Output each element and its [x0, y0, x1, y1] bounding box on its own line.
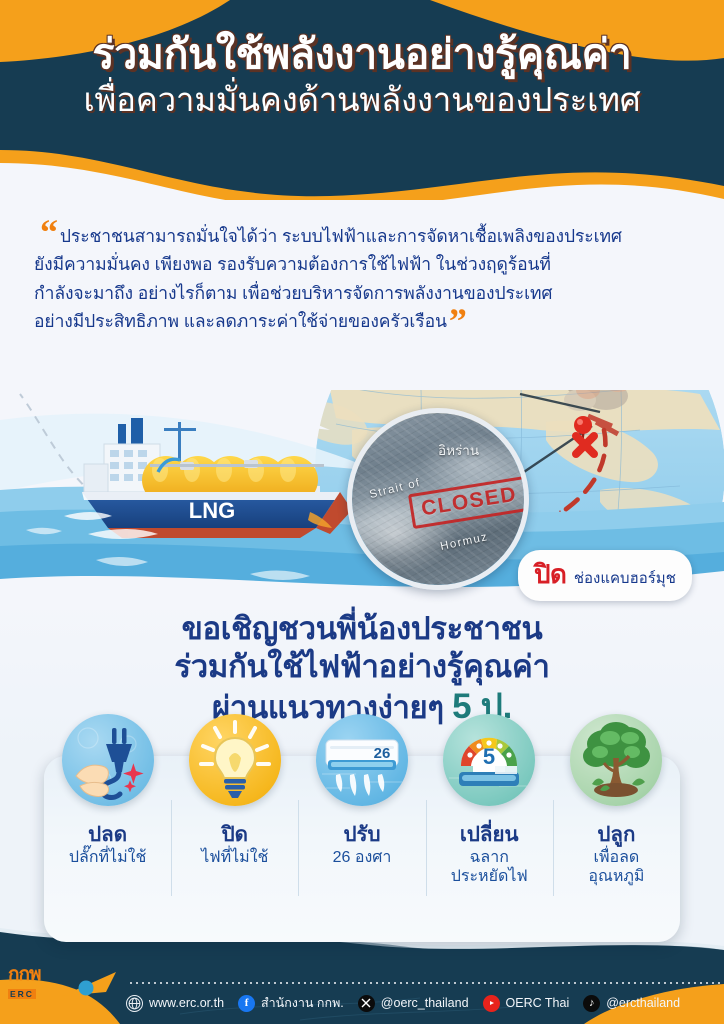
quote-line-4: อย่างมีประสิทธิภาพ และลดภาระค่าใช้จ่ายขอ… — [34, 311, 447, 331]
social-link-facebook[interactable]: f สำนักงาน กกพ. — [238, 993, 344, 1013]
tip-item-plant-tree[interactable]: ปลูก เพื่อลด อุณหภูมิ — [553, 756, 680, 942]
social-link-youtube[interactable]: OERC Thai — [483, 995, 570, 1012]
quote-close-icon: ” — [449, 311, 467, 333]
hormuz-closure-callout: ปิด ช่องแคบฮอร์มุช — [518, 550, 692, 601]
energy-label-no5-icon: 5 — [443, 714, 535, 806]
callout-small-text: ช่องแคบฮอร์มุช — [574, 570, 676, 587]
social-label: @ercthailand — [606, 996, 680, 1010]
social-label: @oerc_thailand — [381, 996, 469, 1010]
tip-title: ปิด — [171, 818, 298, 851]
page-title: ร่วมกันใช้พลังงานอย่างรู้คุณค่า เพื่อควา… — [0, 30, 724, 123]
iran-label: อิหร่าน — [438, 439, 479, 461]
air-conditioner-icon: 26 — [316, 714, 408, 806]
tip-item-turn-off-lights[interactable]: ปิด ไฟที่ไม่ใช้ — [171, 756, 298, 942]
social-link-x[interactable]: @oerc_thailand — [358, 995, 469, 1012]
x-cross-icon — [570, 430, 600, 460]
tip-subtitle: ฉลาก ประหยัดไฟ — [426, 848, 553, 886]
quote-line-1: ประชาชนสามารถมั่นใจได้ว่า ระบบไฟฟ้าและกา… — [60, 226, 622, 246]
tip-title: ปลูก — [553, 818, 680, 851]
tip-item-set-ac-26[interactable]: 26 ปรับ 26 องศา — [298, 756, 425, 942]
x-twitter-icon — [358, 995, 375, 1012]
ac-temperature-value: 26 — [374, 745, 391, 762]
ship-label: LNG — [189, 498, 235, 523]
cta-line-1: ขอเชิญชวนพี่น้องประชาชน — [0, 596, 724, 648]
erc-logo[interactable]: กกพ ERC — [8, 966, 128, 1008]
title-line-2: เพื่อความมั่นคงด้านพลังงานของประเทศ — [0, 78, 724, 123]
energy-rating-value: 5 — [483, 744, 495, 769]
social-label: OERC Thai — [506, 996, 570, 1010]
tip-subtitle: เพื่อลด อุณหภูมิ — [553, 848, 680, 886]
tree-icon — [570, 714, 662, 806]
tip-subtitle: 26 องศา — [298, 848, 425, 867]
quote-line-2: ยังมีความมั่นคง เพียงพอ รองรับความต้องกา… — [34, 250, 700, 278]
tip-subtitle: ปลั๊กที่ไม่ใช้ — [44, 848, 171, 867]
logo-swoosh-icon — [60, 970, 122, 1000]
cta-line-2: ร่วมกันใช้ไฟฟ้าอย่างรู้คุณค่า — [0, 648, 724, 686]
quote-open-icon: “ — [40, 222, 58, 244]
tiktok-icon: ♪ — [583, 995, 600, 1012]
quote-line-row-4: อย่างมีประสิทธิภาพ และลดภาระค่าใช้จ่ายขอ… — [34, 307, 700, 335]
facebook-icon: f — [238, 995, 255, 1012]
social-link-tiktok[interactable]: ♪ @ercthailand — [583, 995, 680, 1012]
social-links: www.erc.or.th f สำนักงาน กกพ. @oerc_thai… — [126, 988, 724, 1018]
header-banner: ร่วมกันใช้พลังงานอย่างรู้คุณค่า เพื่อควา… — [0, 0, 724, 215]
social-label: สำนักงาน กกพ. — [261, 993, 344, 1013]
youtube-icon — [483, 995, 500, 1012]
footer-dotted-divider — [128, 982, 724, 984]
tip-title: ปลด — [44, 818, 171, 851]
quote-line-3: กำลังจะมาถึง อย่างไรก็ตาม เพื่อช่วยบริหา… — [34, 279, 700, 307]
quote-line-row-1: “ประชาชนสามารถมั่นใจได้ว่า ระบบไฟฟ้าและก… — [34, 222, 700, 250]
tips-list: ปลด ปลั๊กที่ไม่ใช้ — [44, 756, 680, 942]
infographic-poster: ร่วมกันใช้พลังงานอย่างรู้คุณค่า เพื่อควา… — [0, 0, 724, 1024]
social-link-website[interactable]: www.erc.or.th — [126, 995, 224, 1012]
tip-title: เปลี่ยน — [426, 818, 553, 851]
tip-subtitle: ไฟที่ไม่ใช้ — [171, 848, 298, 867]
hand-unplug-icon — [62, 714, 154, 806]
callout-big-text: ปิด — [534, 559, 566, 589]
globe-icon — [126, 995, 143, 1012]
logo-erc-text: ERC — [8, 989, 36, 999]
tip-item-unplug[interactable]: ปลด ปลั๊กที่ไม่ใช้ — [44, 756, 171, 942]
lightbulb-icon — [189, 714, 281, 806]
title-line-1: ร่วมกันใช้พลังงานอย่างรู้คุณค่า — [0, 30, 724, 78]
tip-item-energy-label[interactable]: 5 เปลี่ยน ฉลาก ประหยัดไฟ — [426, 756, 553, 942]
quote-block: “ประชาชนสามารถมั่นใจได้ว่า ระบบไฟฟ้าและก… — [0, 222, 724, 335]
tip-title: ปรับ — [298, 818, 425, 851]
social-label: www.erc.or.th — [149, 996, 224, 1010]
hormuz-magnifier: อิหร่าน Strait of Hormuz CLOSED — [347, 408, 529, 590]
